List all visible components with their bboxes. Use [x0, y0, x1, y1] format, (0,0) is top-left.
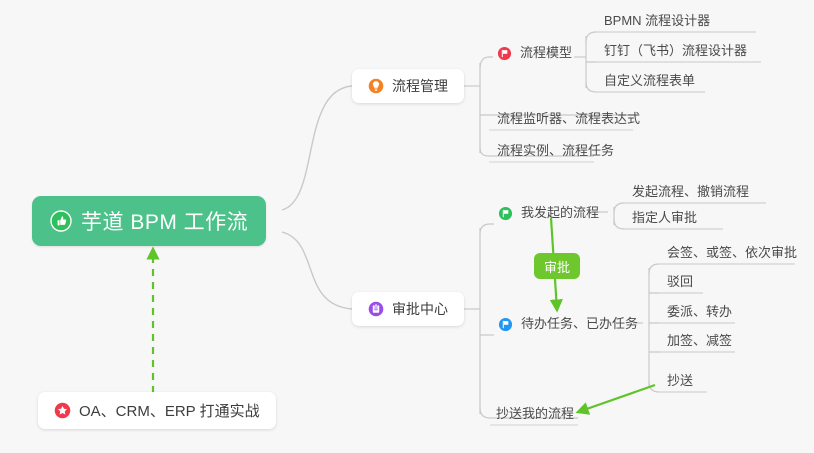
node-label: 发起流程、撤销流程: [632, 181, 749, 200]
node-label: 我发起的流程: [521, 202, 599, 221]
flag-icon: [498, 206, 513, 221]
flag-icon: [498, 317, 513, 332]
node-cc[interactable]: 抄送: [661, 370, 699, 392]
approval-badge[interactable]: 审批: [534, 253, 580, 279]
star-icon: [54, 402, 71, 419]
node-label: 审批中心: [392, 299, 448, 319]
node-assignee-approval[interactable]: 指定人审批: [626, 207, 703, 229]
node-label: 加签、减签: [667, 330, 732, 349]
node-bpmn-designer[interactable]: BPMN 流程设计器: [598, 10, 716, 32]
node-label: 流程监听器、流程表达式: [497, 108, 640, 127]
node-label: BPMN 流程设计器: [604, 10, 710, 29]
root-label: 芋道 BPM 工作流: [81, 206, 248, 236]
thumbs-up-icon: [50, 210, 72, 232]
edge-root-to-process-management: [282, 86, 352, 210]
approval-badge-label: 审批: [544, 257, 570, 276]
node-label: 流程实例、流程任务: [497, 140, 614, 159]
node-label: 委派、转办: [667, 301, 732, 320]
node-label: 驳回: [667, 271, 693, 290]
node-process-management[interactable]: 流程管理: [352, 69, 464, 103]
lightbulb-icon: [368, 78, 384, 94]
node-integration-note[interactable]: OA、CRM、ERP 打通实战: [38, 392, 276, 429]
node-cc-to-me-process[interactable]: 抄送我的流程: [490, 403, 580, 425]
node-process-listener-expression[interactable]: 流程监听器、流程表达式: [491, 108, 646, 130]
node-label: 待办任务、已办任务: [521, 313, 638, 332]
node-countersign-orsign-sequential[interactable]: 会签、或签、依次审批: [661, 242, 803, 264]
node-label: OA、CRM、ERP 打通实战: [79, 400, 260, 421]
root-node[interactable]: 芋道 BPM 工作流: [32, 196, 266, 246]
annotation-cc-link-arrow: [578, 385, 655, 412]
flag-icon: [497, 46, 512, 61]
node-custom-process-form[interactable]: 自定义流程表单: [598, 70, 701, 92]
node-label: 自定义流程表单: [604, 70, 695, 89]
clipboard-icon: [368, 301, 384, 317]
node-delegate-transfer[interactable]: 委派、转办: [661, 301, 738, 323]
node-label: 流程模型: [520, 42, 572, 61]
node-my-initiated-process[interactable]: 我发起的流程: [492, 202, 605, 224]
node-approval-center[interactable]: 审批中心: [352, 292, 464, 326]
node-label: 指定人审批: [632, 207, 697, 226]
node-label: 会签、或签、依次审批: [667, 242, 797, 261]
node-dingtalk-feishu-designer[interactable]: 钉钉（飞书）流程设计器: [598, 40, 753, 62]
node-reject[interactable]: 驳回: [661, 271, 699, 293]
node-label: 流程管理: [392, 76, 448, 96]
edge-root-to-approval-center: [282, 232, 352, 309]
edge-ac-branch-initiated: [480, 224, 494, 234]
node-label: 抄送我的流程: [496, 403, 574, 422]
node-label: 钉钉（飞书）流程设计器: [604, 40, 747, 59]
node-add-remove-sign[interactable]: 加签、减签: [661, 330, 738, 352]
node-process-model[interactable]: 流程模型: [491, 42, 578, 64]
node-todo-done-tasks[interactable]: 待办任务、已办任务: [492, 313, 644, 335]
node-process-instance-task[interactable]: 流程实例、流程任务: [491, 140, 620, 162]
mindmap-canvas: 芋道 BPM 工作流 流程管理 审批中心: [0, 0, 814, 453]
node-label: 抄送: [667, 370, 693, 389]
node-start-cancel-process[interactable]: 发起流程、撤销流程: [626, 181, 755, 203]
